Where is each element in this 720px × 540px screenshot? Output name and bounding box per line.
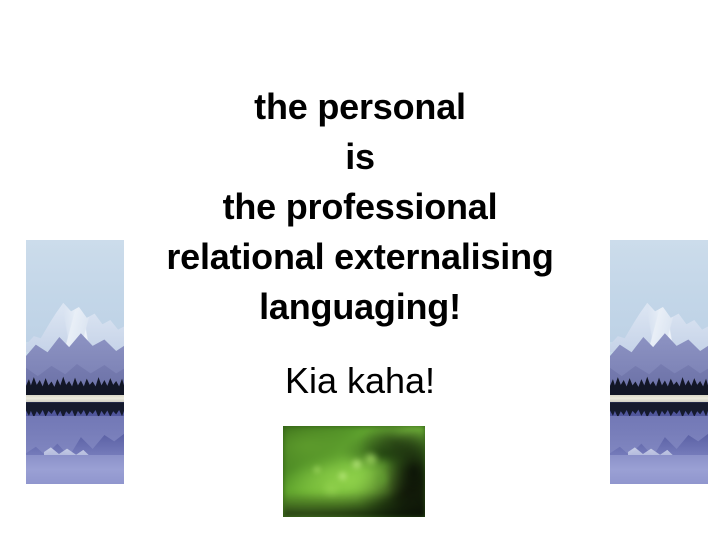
slide-title-line-5: languaging!	[0, 282, 720, 332]
green-foliage-image	[283, 426, 425, 517]
slide-title-line-3: the professional	[0, 182, 720, 232]
water-sheen-region	[26, 455, 124, 484]
slide-title: the personal is the professional relatio…	[0, 82, 720, 332]
presentation-slide: the personal is the professional relatio…	[0, 0, 720, 540]
slide-title-line-2: is	[0, 132, 720, 182]
water-sheen-region	[610, 455, 708, 484]
slide-title-line-4: relational externalising	[0, 232, 720, 282]
slide-subtitle: Kia kaha!	[0, 360, 720, 402]
foliage-shadow-layer	[283, 426, 425, 517]
slide-title-line-1: the personal	[0, 82, 720, 132]
